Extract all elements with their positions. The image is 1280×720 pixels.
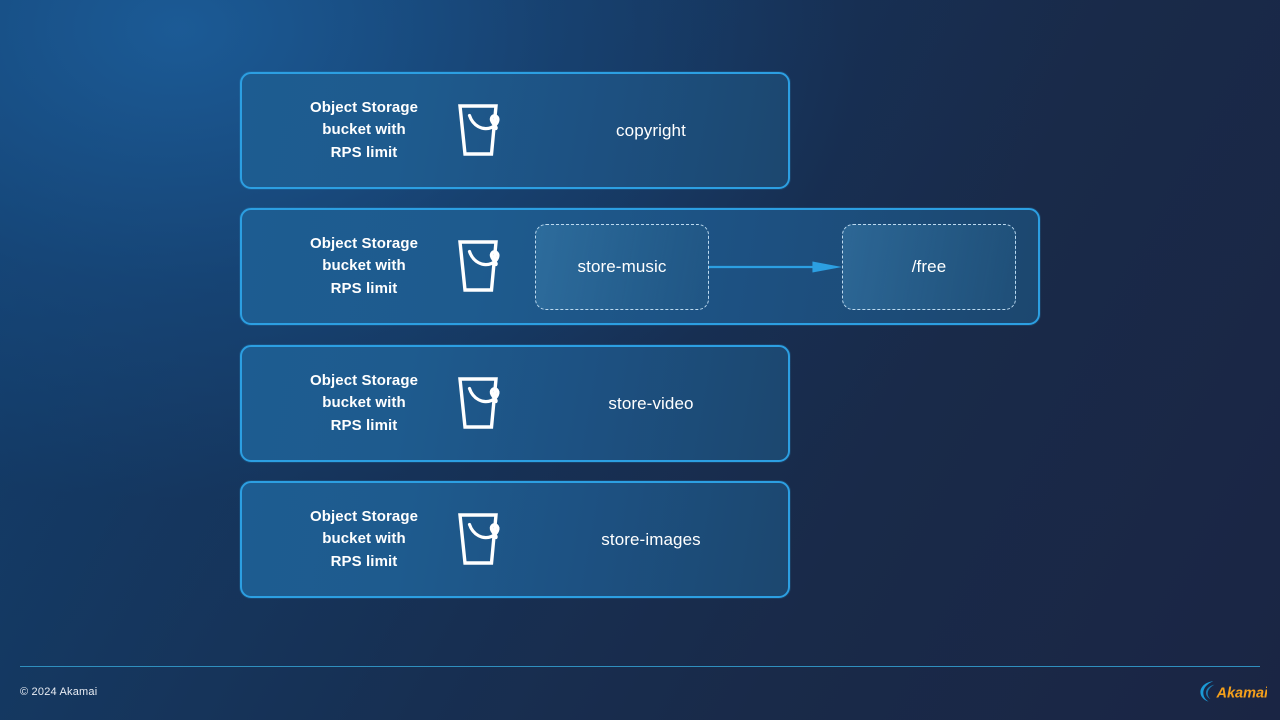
akamai-logo-mark <box>1200 681 1214 701</box>
bucket-card-body: store-music /free <box>514 210 1038 323</box>
bucket-card-title-line: RPS limit <box>331 553 398 570</box>
arrow-right-icon <box>709 260 842 274</box>
bucket-icon <box>452 372 514 434</box>
bucket-card[interactable]: Object Storage bucket with RPS limit sto… <box>240 208 1040 325</box>
bucket-card-title-line: Object Storage <box>310 508 418 525</box>
footer-divider <box>20 666 1260 667</box>
bucket-name-label: store-video <box>514 394 788 414</box>
bucket-card-left: Object Storage bucket with RPS limit <box>242 97 514 163</box>
bucket-card[interactable]: Object Storage bucket with RPS limit sto… <box>240 481 790 598</box>
bucket-card-body: store-video <box>514 347 788 460</box>
bucket-card-title-line: Object Storage <box>310 99 418 116</box>
bucket-name-label: store-images <box>514 530 788 550</box>
bucket-card[interactable]: Object Storage bucket with RPS limit sto… <box>240 345 790 462</box>
bucket-card-title: Object Storage bucket with RPS limit <box>300 97 428 163</box>
bucket-card-left: Object Storage bucket with RPS limit <box>242 506 514 572</box>
bucket-card-title-line: RPS limit <box>331 417 398 434</box>
bucket-card-title-line: bucket with <box>322 394 406 411</box>
bucket-card-title-line: Object Storage <box>310 372 418 389</box>
bucket-card-title-line: RPS limit <box>331 280 398 297</box>
bucket-icon <box>452 99 514 161</box>
bucket-card-title: Object Storage bucket with RPS limit <box>300 506 428 572</box>
akamai-logo-text: Akamai <box>1216 685 1268 701</box>
slide-canvas: Object Storage bucket with RPS limit cop… <box>0 0 1280 720</box>
bucket-icon <box>452 235 514 297</box>
bucket-icon <box>452 508 514 570</box>
bucket-card-title-line: bucket with <box>322 257 406 274</box>
nested-subbox-label: store-music <box>578 257 667 277</box>
bucket-card-title: Object Storage bucket with RPS limit <box>300 370 428 436</box>
nested-subbox-row: store-music /free <box>514 224 1038 310</box>
nested-subbox-label: /free <box>912 257 947 277</box>
bucket-card-left: Object Storage bucket with RPS limit <box>242 233 514 299</box>
bucket-card-body: copyright <box>514 74 788 187</box>
bucket-name-label: copyright <box>514 121 788 141</box>
bucket-card[interactable]: Object Storage bucket with RPS limit cop… <box>240 72 790 189</box>
bucket-card-title-line: bucket with <box>322 121 406 138</box>
footer-copyright: © 2024 Akamai <box>20 686 97 698</box>
bucket-card-left: Object Storage bucket with RPS limit <box>242 370 514 436</box>
nested-subbox-source[interactable]: store-music <box>535 224 709 310</box>
bucket-card-title-line: bucket with <box>322 530 406 547</box>
bucket-card-title: Object Storage bucket with RPS limit <box>300 233 428 299</box>
bucket-card-title-line: Object Storage <box>310 235 418 252</box>
nested-subbox-target[interactable]: /free <box>842 224 1016 310</box>
bucket-card-body: store-images <box>514 483 788 596</box>
bucket-card-title-line: RPS limit <box>331 144 398 161</box>
akamai-logo: Akamai <box>1199 679 1267 704</box>
